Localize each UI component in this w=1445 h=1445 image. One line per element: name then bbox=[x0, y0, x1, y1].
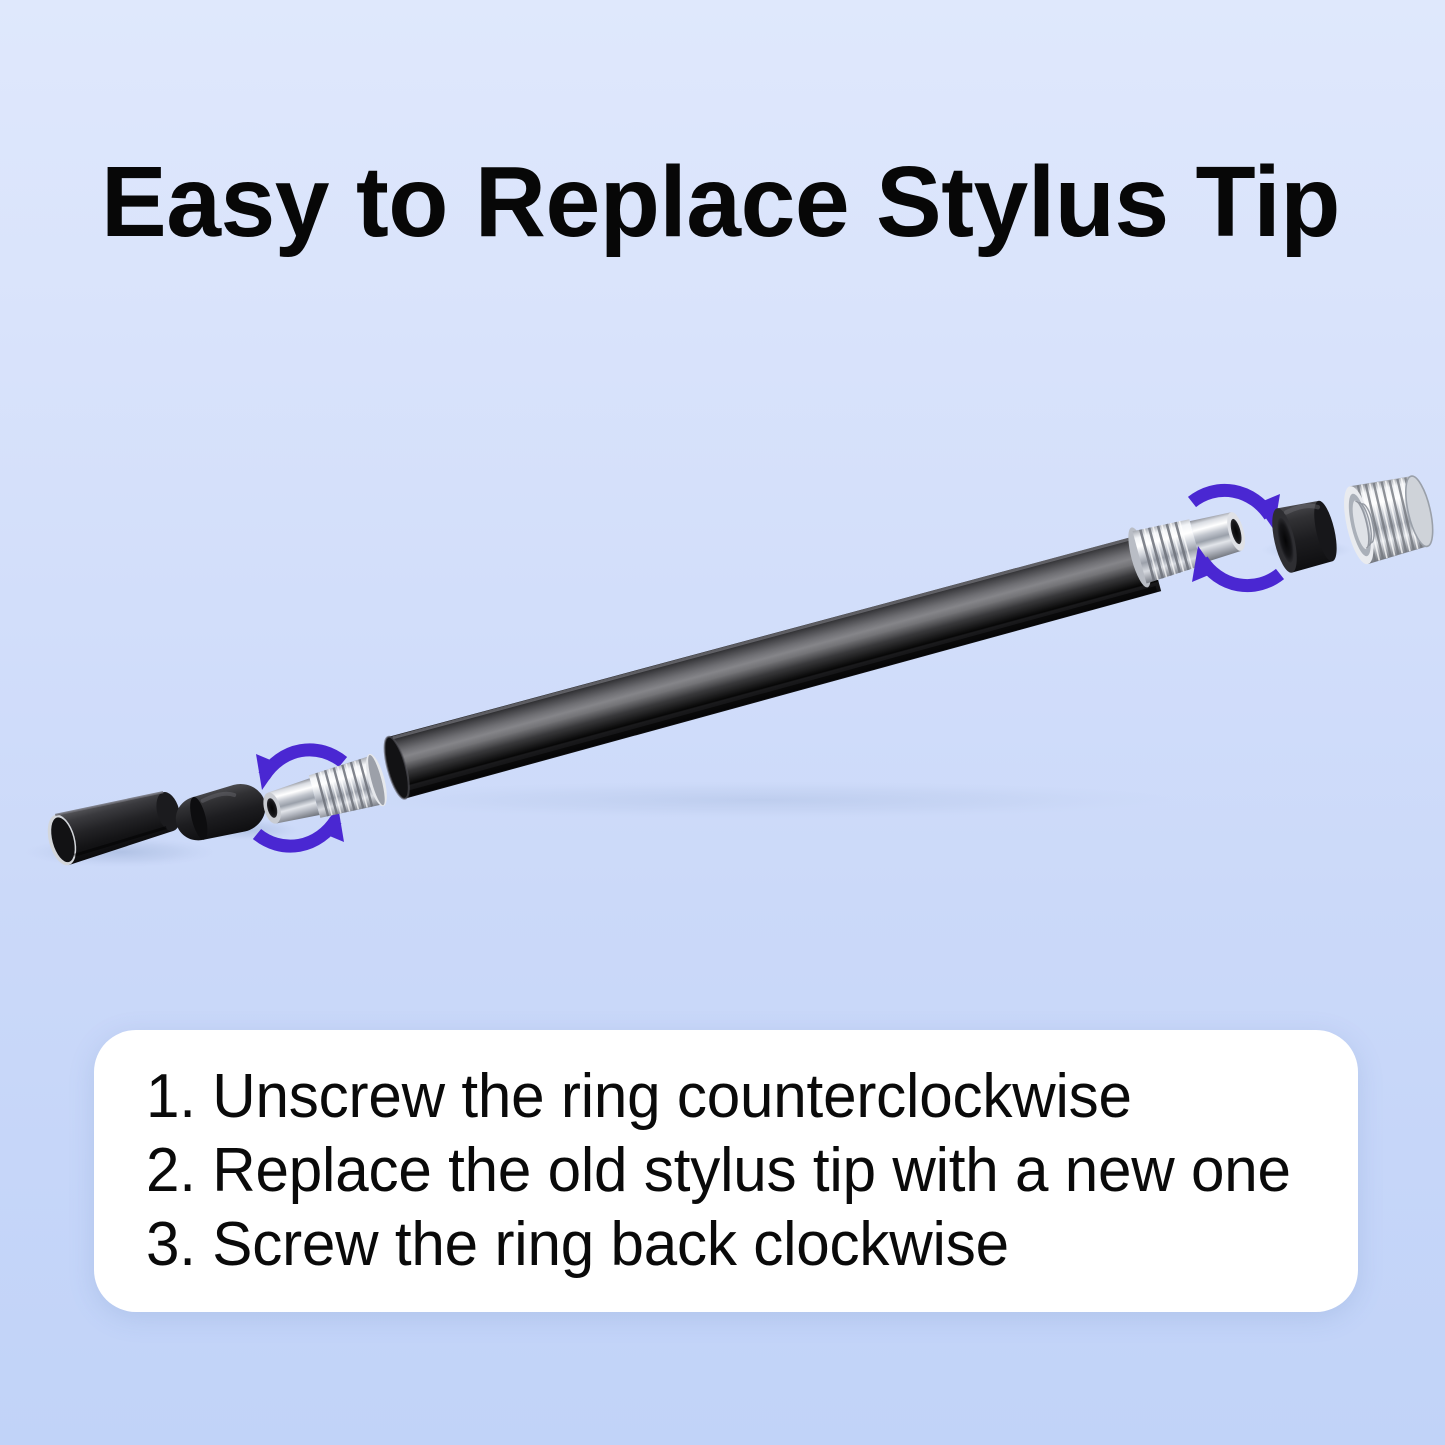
silver-threaded-connector-right bbox=[1124, 500, 1252, 590]
instruction-card: 1. Unscrew the ring counterclockwise 2. … bbox=[94, 1030, 1358, 1312]
black-rubber-disc-tip bbox=[1267, 497, 1341, 575]
product-infographic: Easy to Replace Stylus Tip bbox=[0, 0, 1445, 1445]
stylus-barrel bbox=[380, 531, 1162, 801]
instruction-step-3: 3. Screw the ring back clockwise bbox=[146, 1208, 1322, 1282]
page-title: Easy to Replace Stylus Tip bbox=[101, 150, 1352, 254]
instruction-step-2: 2. Replace the old stylus tip with a new… bbox=[146, 1134, 1322, 1208]
silver-knurled-ring bbox=[1338, 470, 1439, 567]
exploded-stylus-diagram bbox=[0, 400, 1445, 940]
instruction-step-1: 1. Unscrew the ring counterclockwise bbox=[146, 1060, 1322, 1134]
